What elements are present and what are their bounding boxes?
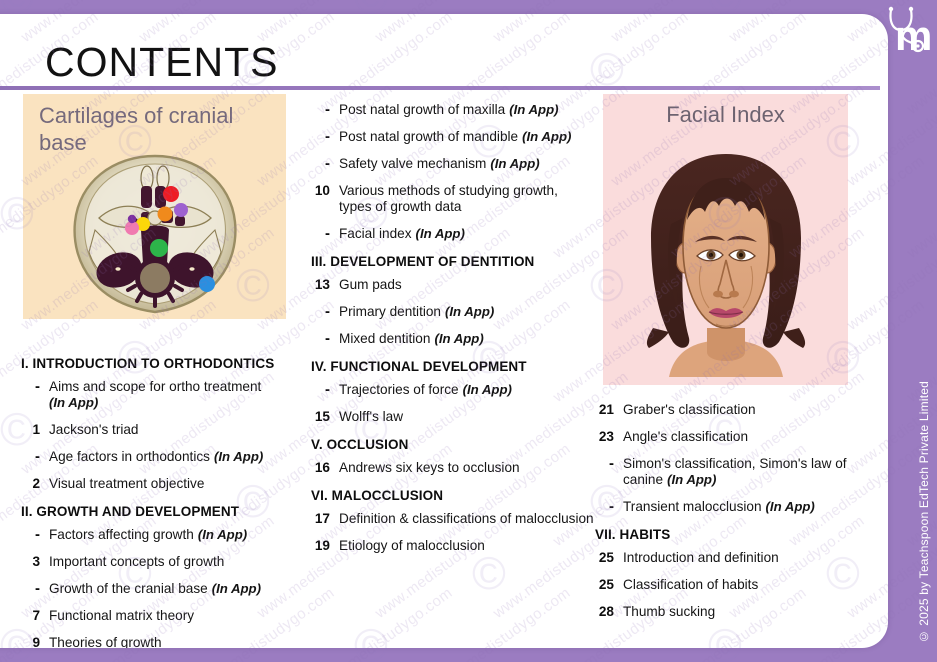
- toc-entry-text-wrap: Definition & classifications of malocclu…: [339, 511, 594, 527]
- toc-entry-label: Definition & classifications of malocclu…: [339, 511, 594, 526]
- toc-entry-text-wrap: Post natal growth of mandible(In App): [339, 129, 594, 145]
- toc-entry-page-number: 7: [14, 608, 49, 624]
- in-app-badge: (In App): [463, 382, 512, 397]
- toc-entry-page-number: 23: [588, 429, 623, 445]
- facial-index-panel: Facial Index: [603, 94, 848, 385]
- toc-entry-bullet: -: [304, 331, 339, 346]
- toc-section-heading: VI. MALOCCLUSION: [311, 488, 594, 503]
- toc-entry[interactable]: 21Graber's classification: [588, 402, 868, 418]
- toc-entry-bullet: -: [14, 527, 49, 542]
- toc-entry-label: Visual treatment objective: [49, 476, 204, 491]
- column-2: -Post natal growth of maxilla(In App)-Po…: [304, 102, 594, 565]
- toc-entry-page-number: 15: [304, 409, 339, 425]
- toc-entry[interactable]: 3Important concepts of growth: [14, 554, 289, 570]
- column-3: 21Graber's classification23Angle's class…: [588, 402, 868, 631]
- toc-entry-text-wrap: Visual treatment objective: [49, 476, 289, 492]
- toc-entry-text-wrap: Primary dentition(In App): [339, 304, 594, 320]
- toc-entry-label: Simon's classification, Simon's law of c…: [623, 456, 847, 487]
- toc-entry[interactable]: 16Andrews six keys to occlusion: [304, 460, 594, 476]
- toc-entry-text-wrap: Facial index(In App): [339, 226, 594, 242]
- toc-entry-text-wrap: Aims and scope for ortho treatment(In Ap…: [49, 379, 289, 411]
- toc-entry[interactable]: -Mixed dentition(In App): [304, 331, 594, 347]
- toc-entry-page-number: 19: [304, 538, 339, 554]
- toc-entry[interactable]: 13Gum pads: [304, 277, 594, 293]
- toc-entry[interactable]: -Post natal growth of mandible(In App): [304, 129, 594, 145]
- toc-entry-text-wrap: Graber's classification: [623, 402, 868, 418]
- toc-entry[interactable]: 25Introduction and definition: [588, 550, 868, 566]
- in-app-badge: (In App): [214, 449, 263, 464]
- toc-entry[interactable]: 28Thumb sucking: [588, 604, 868, 620]
- toc-entry[interactable]: 1Jackson's triad: [14, 422, 289, 438]
- toc-entry-bullet: -: [14, 449, 49, 464]
- toc-entry-bullet: -: [14, 379, 49, 394]
- toc-entry-label: Growth of the cranial base: [49, 581, 208, 596]
- toc-entry-label: Trajectories of force: [339, 382, 459, 397]
- toc-entry-label: Jackson's triad: [49, 422, 138, 437]
- toc-entry[interactable]: -Primary dentition(In App): [304, 304, 594, 320]
- in-app-badge: (In App): [766, 499, 815, 514]
- toc-section-heading: VII. HABITS: [595, 527, 868, 542]
- toc-entry-label: Wolff's law: [339, 409, 403, 424]
- page-background: www.medistudygo.com©www.medistudygo.comw…: [0, 0, 937, 662]
- toc-entry-label: Factors affecting growth: [49, 527, 194, 542]
- toc-entry-bullet: -: [588, 456, 623, 471]
- toc-entry[interactable]: -Growth of the cranial base(In App): [14, 581, 289, 597]
- toc-entry[interactable]: 9Theories of growth: [14, 635, 289, 648]
- toc-entry-page-number: 17: [304, 511, 339, 527]
- toc-entry-text-wrap: Theories of growth: [49, 635, 289, 648]
- toc-entry-text-wrap: Angle's classification: [623, 429, 868, 445]
- toc-entry-label: Classification of habits: [623, 577, 758, 592]
- toc-entry-text-wrap: Simon's classification, Simon's law of c…: [623, 456, 868, 488]
- toc-entry-label: Gum pads: [339, 277, 402, 292]
- toc-entry-text-wrap: Thumb sucking: [623, 604, 868, 620]
- svg-text:m: m: [895, 12, 932, 59]
- in-app-badge: (In App): [445, 304, 494, 319]
- toc-entry-label: Aims and scope for ortho treatment: [49, 379, 261, 394]
- toc-entry[interactable]: -Factors affecting growth(In App): [14, 527, 289, 543]
- toc-entry-bullet: -: [304, 304, 339, 319]
- medistudygo-stethoscope-m-logo: m: [875, 4, 933, 60]
- toc-entry-page-number: 25: [588, 550, 623, 566]
- copyright-notice: © 2025 by Teachspoon EdTech Private Limi…: [917, 381, 931, 644]
- toc-entry-text-wrap: Introduction and definition: [623, 550, 868, 566]
- toc-entry[interactable]: 17Definition & classifications of malocc…: [304, 511, 594, 527]
- toc-entry-bullet: -: [14, 581, 49, 596]
- toc-entry-label: Introduction and definition: [623, 550, 779, 565]
- toc-entry-text-wrap: Trajectories of force(In App): [339, 382, 594, 398]
- in-app-badge: (In App): [212, 581, 261, 596]
- in-app-badge: (In App): [490, 156, 539, 171]
- in-app-badge: (In App): [416, 226, 465, 241]
- toc-entry-bullet: -: [588, 499, 623, 514]
- toc-entry-page-number: 21: [588, 402, 623, 418]
- in-app-badge: (In App): [522, 129, 571, 144]
- facial-index-female-face-illustration: [621, 142, 831, 382]
- toc-entry-bullet: -: [304, 226, 339, 241]
- toc-entry-text-wrap: Various methods of studying growth, type…: [339, 183, 594, 215]
- in-app-badge: (In App): [434, 331, 483, 346]
- toc-entry-text-wrap: Etiology of malocclusion: [339, 538, 594, 554]
- cranial-base-panel: Cartilages of cranial base: [23, 94, 286, 319]
- toc-entry[interactable]: -Simon's classification, Simon's law of …: [588, 456, 868, 488]
- toc-entry-bullet: -: [304, 129, 339, 144]
- toc-entry-label: Mixed dentition: [339, 331, 430, 346]
- toc-entry[interactable]: 7Functional matrix theory: [14, 608, 289, 624]
- toc-entry-page-number: 9: [14, 635, 49, 648]
- toc-section-heading: IV. FUNCTIONAL DEVELOPMENT: [311, 359, 594, 374]
- toc-entry[interactable]: -Post natal growth of maxilla(In App): [304, 102, 594, 118]
- in-app-badge: (In App): [49, 395, 98, 410]
- toc-entry[interactable]: -Transient malocclusion(In App): [588, 499, 868, 515]
- cranial-panel-caption: Cartilages of cranial base: [39, 102, 270, 156]
- toc-entry[interactable]: -Trajectories of force(In App): [304, 382, 594, 398]
- toc-entry-page-number: 2: [14, 476, 49, 492]
- toc-entry-text-wrap: Wolff's law: [339, 409, 594, 425]
- column-1: I. INTRODUCTION TO ORTHODONTICS-Aims and…: [14, 344, 289, 648]
- toc-entry-page-number: 28: [588, 604, 623, 620]
- toc-entry-label: Angle's classification: [623, 429, 748, 444]
- toc-entry-page-number: 25: [588, 577, 623, 593]
- toc-entry-text-wrap: Jackson's triad: [49, 422, 289, 438]
- toc-section-heading: V. OCCLUSION: [311, 437, 594, 452]
- toc-entry-label: Safety valve mechanism: [339, 156, 486, 171]
- toc-entry[interactable]: -Aims and scope for ortho treatment(In A…: [14, 379, 289, 411]
- toc-entry-text-wrap: Gum pads: [339, 277, 594, 293]
- toc-entry-page-number: 1: [14, 422, 49, 438]
- toc-entry-label: Theories of growth: [49, 635, 162, 648]
- toc-entry-label: Age factors in orthodontics: [49, 449, 210, 464]
- toc-entry-bullet: -: [304, 156, 339, 171]
- toc-section-heading: II. GROWTH AND DEVELOPMENT: [21, 504, 289, 519]
- toc-entry-text-wrap: Important concepts of growth: [49, 554, 289, 570]
- toc-section-heading: III. DEVELOPMENT OF DENTITION: [311, 254, 594, 269]
- toc-section-heading: I. INTRODUCTION TO ORTHODONTICS: [21, 356, 289, 371]
- in-app-badge: (In App): [667, 472, 716, 487]
- toc-entry-text-wrap: Post natal growth of maxilla(In App): [339, 102, 594, 118]
- watermark-text: www.medistudygo.com: [904, 152, 937, 262]
- toc-entry-page-number: 13: [304, 277, 339, 293]
- contents-card: CONTENTS Cartilages of cranial base: [0, 14, 888, 648]
- toc-entry-text-wrap: Andrews six keys to occlusion: [339, 460, 594, 476]
- toc-entry-label: Facial index: [339, 226, 412, 241]
- toc-entry[interactable]: 23Angle's classification: [588, 429, 868, 445]
- toc-entry[interactable]: -Facial index(In App): [304, 226, 594, 242]
- toc-entry[interactable]: -Safety valve mechanism(In App): [304, 156, 594, 172]
- toc-entry-bullet: -: [304, 102, 339, 117]
- toc-entry-page-number: 16: [304, 460, 339, 476]
- toc-entry-label: Graber's classification: [623, 402, 756, 417]
- toc-entry-text-wrap: Growth of the cranial base(In App): [49, 581, 289, 597]
- cranial-base-cartilages-illustration: [55, 152, 255, 319]
- toc-entry-label: Functional matrix theory: [49, 608, 194, 623]
- toc-entry[interactable]: -Age factors in orthodontics(In App): [14, 449, 289, 465]
- toc-entry[interactable]: 15Wolff's law: [304, 409, 594, 425]
- toc-entry-page-number: 3: [14, 554, 49, 570]
- toc-entry-label: Etiology of malocclusion: [339, 538, 485, 553]
- toc-entry-label: Thumb sucking: [623, 604, 715, 619]
- in-app-badge: (In App): [198, 527, 247, 542]
- toc-entry-text-wrap: Safety valve mechanism(In App): [339, 156, 594, 172]
- toc-entry-label: Primary dentition: [339, 304, 441, 319]
- toc-entry-label: Various methods of studying growth, type…: [339, 183, 558, 214]
- toc-entry-label: Andrews six keys to occlusion: [339, 460, 520, 475]
- toc-entry-text-wrap: Mixed dentition(In App): [339, 331, 594, 347]
- toc-entry-text-wrap: Functional matrix theory: [49, 608, 289, 624]
- toc-entry-text-wrap: Classification of habits: [623, 577, 868, 593]
- toc-entry[interactable]: 19Etiology of malocclusion: [304, 538, 594, 554]
- facial-panel-caption: Facial Index: [603, 102, 848, 128]
- in-app-badge: (In App): [509, 102, 558, 117]
- toc-entry-bullet: -: [304, 382, 339, 397]
- toc-entry-text-wrap: Age factors in orthodontics(In App): [49, 449, 289, 465]
- toc-entry-label: Important concepts of growth: [49, 554, 224, 569]
- toc-entry-label: Post natal growth of mandible: [339, 129, 518, 144]
- toc-entry-page-number: 10: [304, 183, 339, 199]
- title-divider: [0, 86, 880, 90]
- toc-entry-label: Transient malocclusion: [623, 499, 762, 514]
- toc-entry[interactable]: 25Classification of habits: [588, 577, 868, 593]
- toc-entry[interactable]: 10Various methods of studying growth, ty…: [304, 183, 594, 215]
- toc-entry-label: Post natal growth of maxilla: [339, 102, 505, 117]
- toc-entry[interactable]: 2Visual treatment objective: [14, 476, 289, 492]
- toc-entry-text-wrap: Factors affecting growth(In App): [49, 527, 289, 543]
- page-title: CONTENTS: [45, 39, 279, 86]
- toc-entry-text-wrap: Transient malocclusion(In App): [623, 499, 868, 515]
